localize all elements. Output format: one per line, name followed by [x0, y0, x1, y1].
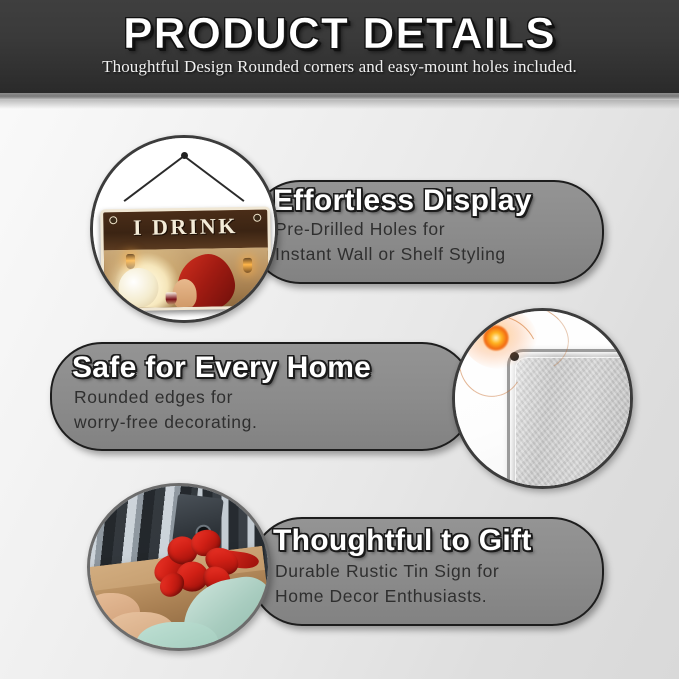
feature-3-title: Thoughtful to Gift [273, 524, 532, 558]
tin-sign-artwork [104, 248, 269, 309]
header-banner: PRODUCT DETAILS Thoughtful Design Rounde… [0, 0, 679, 93]
spark-icon [483, 325, 509, 351]
tin-sign-caption: I DRINK [103, 213, 267, 242]
feature-2-title: Safe for Every Home [72, 351, 371, 385]
feature-2-line-1: Rounded edges for [74, 387, 233, 408]
feature-1-image-circle: I DRINK [90, 135, 278, 323]
header-divider-shadow [0, 100, 679, 109]
feature-1-title: Effortless Display [273, 184, 532, 218]
feature-1-line-1: Pre-Drilled Holes for [275, 219, 445, 240]
header-subtitle: Thoughtful Design Rounded corners and ea… [0, 57, 679, 77]
feature-3-image-circle [87, 483, 271, 651]
feature-2-line-2: worry-free decorating. [74, 412, 257, 433]
tin-sign-product: I DRINK [100, 207, 272, 312]
moon-icon [118, 267, 159, 308]
feature-3-line-2: Home Decor Enthusiasts. [275, 586, 487, 607]
wine-glass-icon [166, 292, 177, 305]
header-divider [0, 93, 679, 100]
lantern-icon-right [243, 258, 252, 273]
infographic-canvas: PRODUCT DETAILS Thoughtful Design Rounde… [0, 0, 679, 679]
feature-1-line-2: Instant Wall or Shelf Styling [275, 244, 506, 265]
hanging-peg-icon [181, 152, 188, 159]
page-title: PRODUCT DETAILS [0, 9, 679, 59]
feature-2-image-circle [452, 308, 633, 489]
sleeve-cuff-shape [136, 622, 218, 651]
feature-3-line-1: Durable Rustic Tin Sign for [275, 561, 499, 582]
lantern-icon-left [126, 254, 135, 269]
